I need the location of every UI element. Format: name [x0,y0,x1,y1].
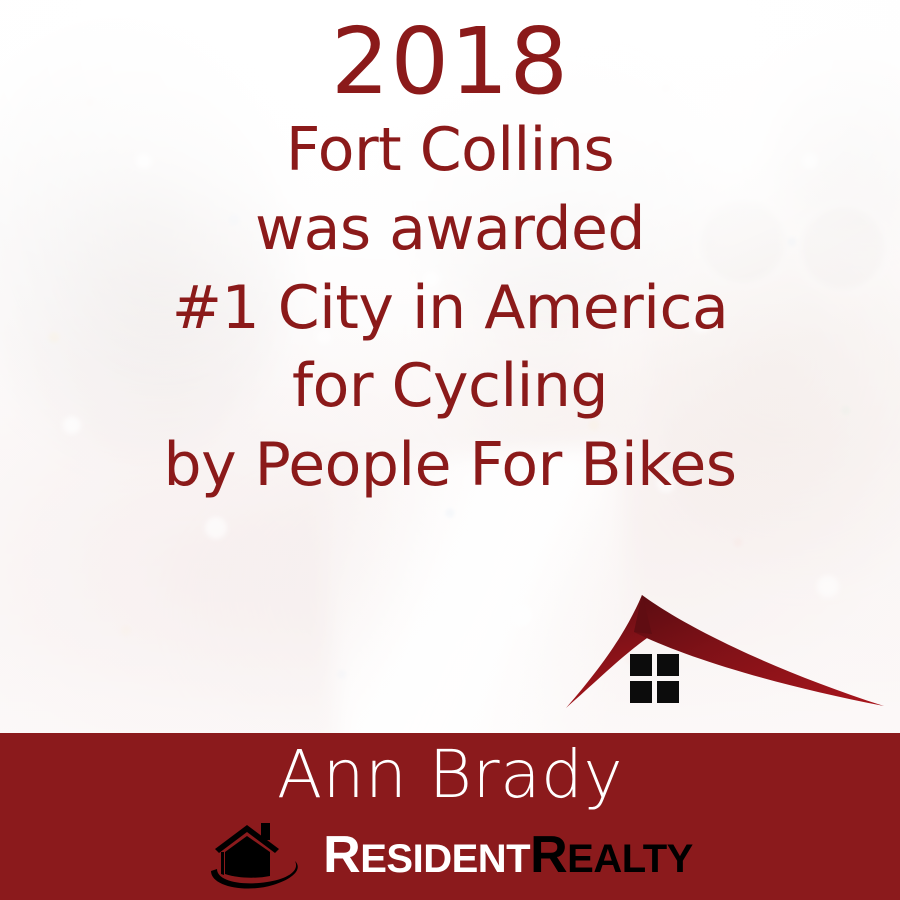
brand-wordmark: RESIDENTREALTY [323,829,693,881]
brand-realty-rest: EALTY [567,837,693,881]
headline-line: was awarded [0,190,900,269]
headline-line: by People For Bikes [0,426,900,505]
award-poster: 2018 Fort Collins was awarded #1 City in… [0,0,900,900]
headline-block: 2018 Fort Collins was awarded #1 City in… [0,0,900,504]
four-pane-window-icon [630,654,679,703]
brand-word-resident: RESIDENT [323,826,530,884]
house-swoosh-icon [207,819,315,891]
headline-lines: Fort Collins was awarded #1 City in Amer… [0,111,900,504]
agent-name: Ann Brady [0,733,900,810]
brand-resident-lead: R [323,826,360,884]
agent-banner: Ann Brady RESIDENTREALTY [0,733,900,900]
brand-word-realty: REALTY [530,826,693,884]
brand-resident-rest: ESIDENT [360,837,530,881]
roof-logo [558,580,900,720]
brand-lockup: RESIDENTREALTY [0,819,900,891]
brand-realty-lead: R [530,826,567,884]
roof-swoosh-icon [558,580,900,720]
headline-line: #1 City in America [0,269,900,348]
headline-line: for Cycling [0,347,900,426]
headline-line: Fort Collins [0,111,900,190]
year-title: 2018 [0,0,900,111]
